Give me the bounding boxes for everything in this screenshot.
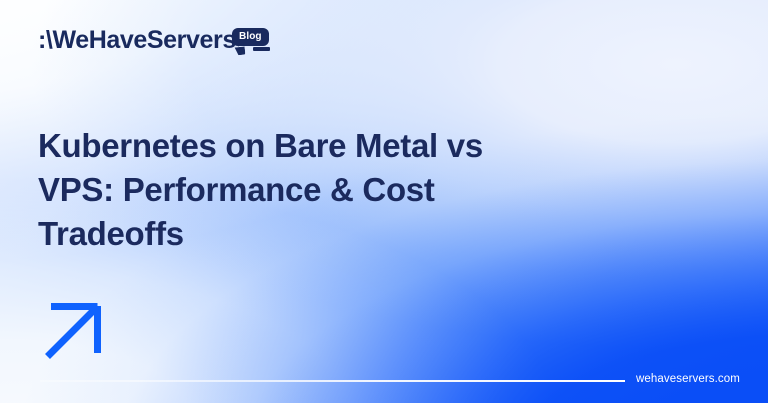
arrow-up-right-icon: [45, 303, 101, 359]
site-logo[interactable]: :\WeHaveServers > Blog: [38, 28, 270, 53]
logo-wordmark: :\WeHaveServers: [38, 28, 236, 53]
page-title: Kubernetes on Bare Metal vs VPS: Perform…: [38, 124, 508, 257]
blog-share-card: :\WeHaveServers > Blog Kubernetes on Bar…: [0, 0, 768, 403]
blog-badge-tail-icon: [235, 46, 246, 55]
footer-domain[interactable]: wehaveservers.com: [636, 373, 740, 385]
footer-divider: [40, 380, 625, 382]
terminal-cursor-icon: [253, 47, 270, 51]
blog-badge: Blog: [232, 28, 269, 46]
